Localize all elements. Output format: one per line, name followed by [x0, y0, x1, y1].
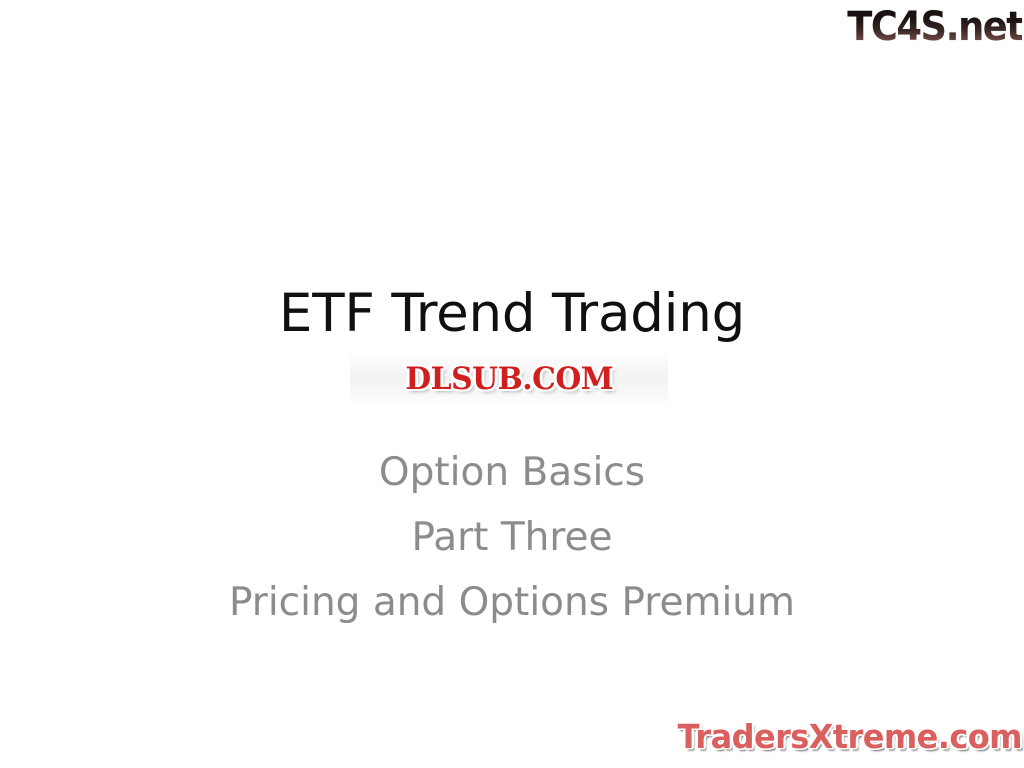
tc4s-net-logo-text: TC4S.net: [847, 5, 1022, 49]
dlsub-com-watermark: DLSUB.COM: [350, 352, 668, 406]
presentation-slide: TC4S.net ETF Trend Trading DLSUB.COM Opt…: [0, 0, 1024, 768]
subtitle-line-2: Part Three: [0, 505, 1024, 570]
slide-title: ETF Trend Trading: [279, 283, 745, 345]
subtitle-line-1: Option Basics: [0, 440, 1024, 505]
tradersxtreme-com-logo: TradersXtreme.com: [672, 712, 1022, 762]
tradersxtreme-com-logo-text: TradersXtreme.com: [678, 718, 1022, 756]
subtitle-line-3: Pricing and Options Premium: [0, 570, 1024, 635]
slide-subtitle-block: Option Basics Part Three Pricing and Opt…: [0, 440, 1024, 635]
slide-title-block: ETF Trend Trading: [0, 283, 1024, 345]
dlsub-com-watermark-text: DLSUB.COM: [405, 362, 613, 396]
tc4s-net-logo: TC4S.net: [828, 2, 1022, 52]
